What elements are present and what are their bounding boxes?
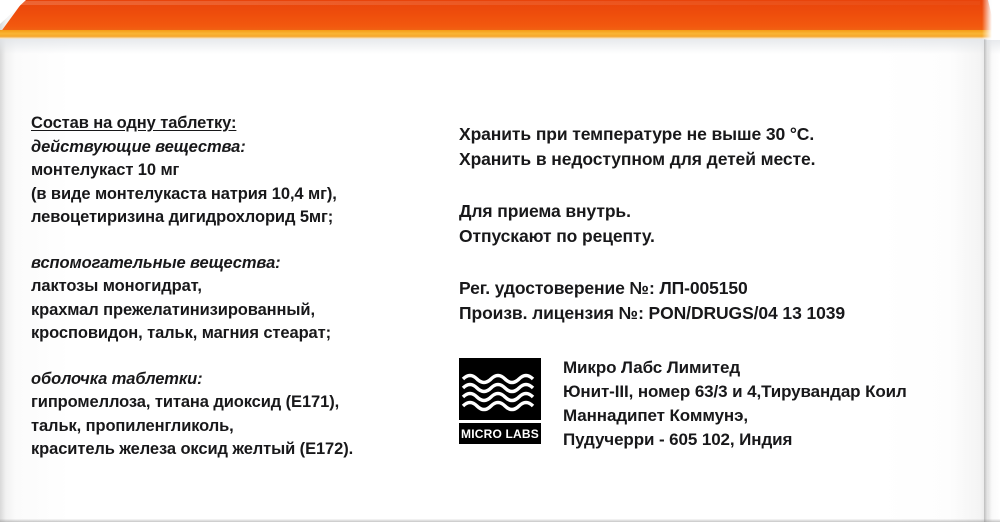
administration-line: Отпускают по рецепту. bbox=[459, 224, 979, 249]
manufacturer-address-line: Маннадипет Коммунэ, bbox=[563, 404, 907, 428]
composition-heading: Состав на одну таблетку: bbox=[31, 112, 441, 136]
composition-column: Состав на одну таблетку: действующие вещ… bbox=[31, 112, 441, 462]
waves-icon bbox=[459, 358, 541, 420]
excipients-label: вспомогательные вещества: bbox=[31, 252, 441, 276]
manufacturer-name: Микро Лабс Лимитед bbox=[563, 356, 907, 380]
coating-line: краситель железа оксид желтый (Е172). bbox=[31, 438, 441, 462]
administration-block: Для приема внутрь. Отпускают по рецепту. bbox=[459, 199, 979, 249]
excipient-line: крахмал прежелатинизированный, bbox=[31, 299, 441, 323]
excipients-block: вспомогательные вещества: лактозы моноги… bbox=[31, 252, 441, 346]
manufacturer-block: MICRO LABS Микро Лабс Лимитед Юнит-III, … bbox=[459, 356, 979, 452]
registration-spacer bbox=[459, 326, 979, 356]
coating-label: оболочка таблетки: bbox=[31, 368, 441, 392]
storage-spacer bbox=[459, 172, 979, 199]
storage-line: Хранить при температуре не выше 30 °С. bbox=[459, 122, 979, 147]
info-column: Хранить при температуре не выше 30 °С. Х… bbox=[459, 122, 979, 452]
active-substance-line: (в виде монтелукаста натрия 10,4 мг), bbox=[31, 183, 441, 207]
micro-labs-wordmark: MICRO LABS bbox=[459, 423, 541, 444]
manufacturer-address-line: Пудучерри - 605 102, Индия bbox=[563, 428, 907, 452]
manufacturer-address: Микро Лабс Лимитед Юнит-III, номер 63/3 … bbox=[563, 356, 907, 452]
administration-line: Для приема внутрь. bbox=[459, 199, 979, 224]
excipient-line: лактозы моногидрат, bbox=[31, 275, 441, 299]
coating-line: гипромеллоза, титана диоксид (Е171), bbox=[31, 391, 441, 415]
printed-text-content: Состав на одну таблетку: действующие вещ… bbox=[0, 0, 1000, 522]
excipients-spacer bbox=[31, 346, 441, 368]
manufacturer-address-line: Юнит-III, номер 63/3 и 4,Тирувандар Коил bbox=[563, 380, 907, 404]
registration-block: Рег. удостоверение №: ЛП-005150 Произв. … bbox=[459, 276, 979, 326]
excipient-line: кросповидон, тальк, магния стеарат; bbox=[31, 322, 441, 346]
coating-block: оболочка таблетки: гипромеллоза, титана … bbox=[31, 368, 441, 462]
storage-line: Хранить в недоступном для детей месте. bbox=[459, 147, 979, 172]
administration-spacer bbox=[459, 249, 979, 276]
manufacturing-license-line: Произв. лицензия №: PON/DRUGS/04 13 1039 bbox=[459, 301, 979, 326]
medicine-carton-panel: Состав на одну таблетку: действующие вещ… bbox=[0, 0, 1000, 522]
active-substance-line: левоцетиризина дигидрохлорид 5мг; bbox=[31, 206, 441, 230]
active-substance-line: монтелукаст 10 мг bbox=[31, 159, 441, 183]
storage-block: Хранить при температуре не выше 30 °С. Х… bbox=[459, 122, 979, 172]
composition-spacer bbox=[31, 230, 441, 252]
coating-line: тальк, пропиленгликоль, bbox=[31, 415, 441, 439]
registration-certificate-line: Рег. удостоверение №: ЛП-005150 bbox=[459, 276, 979, 301]
micro-labs-logo: MICRO LABS bbox=[459, 358, 541, 444]
composition-heading-block: Состав на одну таблетку: действующие вещ… bbox=[31, 112, 441, 230]
active-substances-label: действующие вещества: bbox=[31, 136, 441, 160]
